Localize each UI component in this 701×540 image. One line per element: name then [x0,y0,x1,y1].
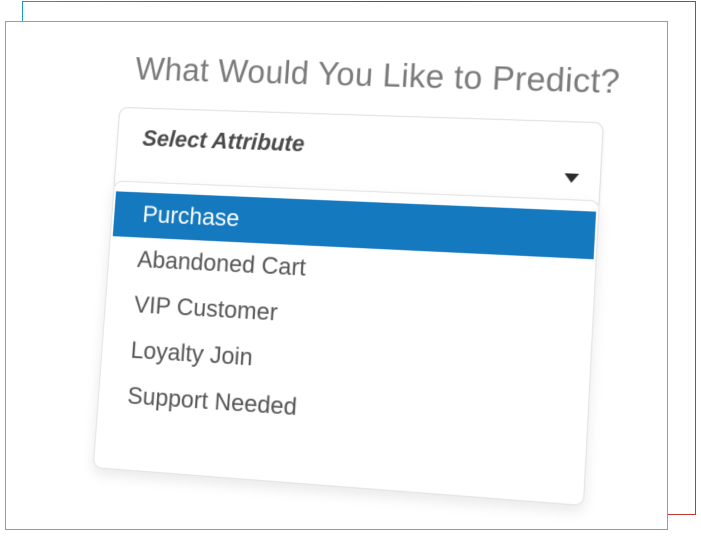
app-content-frame: What Would You Like to Predict? Select A… [5,21,668,530]
predict-attribute-card: What Would You Like to Predict? Select A… [55,33,599,530]
dropdown-option-vip-customer[interactable]: VIP Customer [104,281,593,355]
chevron-down-icon[interactable] [564,173,579,183]
dropdown-option-abandoned-cart[interactable]: Abandoned Cart [108,236,596,307]
perspective-wrapper: What Would You Like to Predict? Select A… [6,22,668,529]
dropdown-option-label: Purchase [142,201,241,232]
page-title: What Would You Like to Predict? [134,51,601,99]
dropdown-option-support-needed[interactable]: Support Needed [97,372,588,452]
dropdown-option-label: Support Needed [127,382,298,421]
dropdown-option-purchase[interactable]: Purchase [113,191,596,259]
dropdown-option-label: VIP Customer [133,291,278,326]
screenshot-stage: What Would You Like to Predict? Select A… [0,0,701,540]
dropdown-option-label: Abandoned Cart [136,246,306,281]
dropdown-option-label: Loyalty Join [130,337,254,372]
dropdown-option-loyalty-join[interactable]: Loyalty Join [101,326,591,403]
select-attribute-value: Select Attribute [142,125,306,157]
attribute-dropdown-list[interactable]: Purchase Abandoned Cart VIP Customer Loy… [93,181,600,507]
